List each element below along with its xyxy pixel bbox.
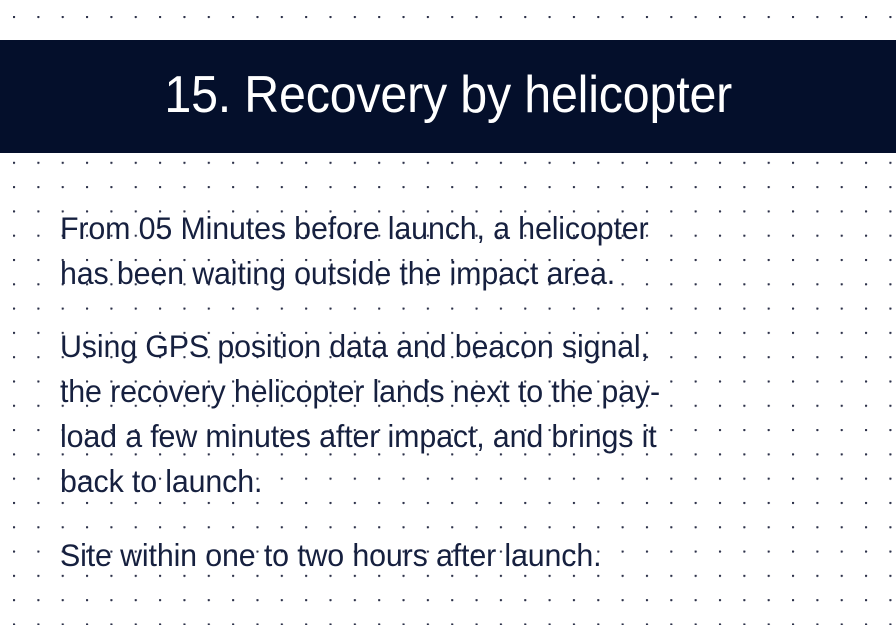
slide-title: 15. Recovery by helicopter	[164, 69, 732, 125]
body-paragraph-2: Using GPS position data and beacon signa…	[60, 324, 822, 504]
presentation-slide: 15. Recovery by helicopter From 05 Minut…	[0, 0, 896, 625]
body-paragraph-3: Site within one to two hours after launc…	[60, 533, 822, 578]
slide-body: From 05 Minutes before launch, a helicop…	[60, 206, 850, 578]
slide-title-banner: 15. Recovery by helicopter	[0, 40, 896, 153]
body-paragraph-1: From 05 Minutes before launch, a helicop…	[60, 206, 822, 296]
